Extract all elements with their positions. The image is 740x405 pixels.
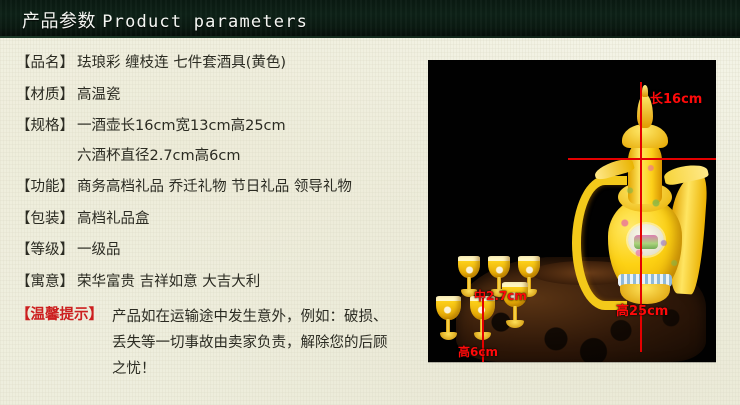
spec-row-material: 【材质】 高温瓷	[16, 84, 421, 109]
warm-tip-label: 【温馨提示】	[16, 304, 103, 326]
spec-value-function: 商务高档礼品 乔迁礼物 节日礼品 领导礼物	[74, 176, 421, 198]
spec-label-function: 【功能】	[16, 176, 74, 198]
spec-value-name: 珐琅彩 缠枝连 七件套酒具(黄色)	[74, 52, 421, 74]
annotation-cup-diameter: 中2.7cm	[474, 287, 527, 304]
teapot-medallion	[628, 224, 664, 256]
warm-tip-row: 【温馨提示】 产品如在运输途中发生意外，例如：破损、 丢失等一切事故由卖家负责，…	[16, 304, 421, 382]
spec-row-packaging: 【包装】 高档礼品盒	[16, 208, 421, 233]
page-title: 产品参数 Product parameters	[22, 7, 308, 33]
spec-row-function: 【功能】 商务高档礼品 乔迁礼物 节日礼品 领导礼物	[16, 176, 421, 201]
teapot-object	[578, 78, 708, 328]
spec-row-size-cups: 六酒杯直径2.7cm高6cm	[16, 145, 421, 170]
warm-tip-line-1: 产品如在运输途中发生意外，例如：破损、	[112, 304, 421, 330]
spec-label-grade: 【等级】	[16, 239, 74, 261]
warm-tip-line-3: 之忧！	[112, 356, 421, 382]
annotation-pot-length: 长16cm	[650, 88, 702, 107]
spec-label-meaning: 【寓意】	[16, 271, 74, 293]
goblet-bowl	[458, 256, 480, 278]
product-photo: 长16cm 高25cm 中2.7cm 高6cm	[428, 60, 716, 362]
spec-value-meaning: 荣华富贵 吉祥如意 大吉大利	[74, 271, 421, 293]
annotation-cup-height: 高6cm	[458, 343, 498, 360]
warm-tip-line-2: 丢失等一切事故由卖家负责，解除您的后顾	[112, 330, 421, 356]
spec-value-packaging: 高档礼品盒	[74, 208, 421, 230]
spec-row-meaning: 【寓意】 荣华富贵 吉祥如意 大吉大利	[16, 271, 421, 296]
spec-row-size: 【规格】 一酒壶长16cm宽13cm高25cm	[16, 115, 421, 140]
page-title-en: Product parameters	[102, 12, 308, 32]
spec-row-grade: 【等级】 一级品	[16, 239, 421, 264]
warm-tip-body: 产品如在运输途中发生意外，例如：破损、 丢失等一切事故由卖家负责，解除您的后顾 …	[103, 304, 421, 382]
goblet-front-1	[436, 296, 461, 342]
spec-value-material: 高温瓷	[74, 84, 421, 106]
spec-value-size-cups: 六酒杯直径2.7cm高6cm	[74, 145, 421, 167]
spec-value-size-pot: 一酒壶长16cm宽13cm高25cm	[74, 115, 421, 137]
goblet-base	[440, 332, 457, 340]
goblet-base	[506, 320, 524, 328]
annotation-line-pot-length	[568, 158, 716, 160]
section-header: 产品参数 Product parameters	[0, 0, 740, 38]
product-spec-list: 【品名】 珐琅彩 缠枝连 七件套酒具(黄色) 【材质】 高温瓷 【规格】 一酒壶…	[16, 52, 421, 388]
goblet-bowl	[518, 256, 540, 278]
spec-label-material: 【材质】	[16, 84, 74, 106]
goblet-bowl	[436, 296, 461, 320]
spec-label-size: 【规格】	[16, 115, 74, 137]
annotation-pot-height: 高25cm	[616, 300, 668, 319]
spec-label-packaging: 【包装】	[16, 208, 74, 230]
page-title-cn: 产品参数	[22, 11, 96, 32]
goblet-bowl	[488, 256, 510, 278]
spec-row-name: 【品名】 珐琅彩 缠枝连 七件套酒具(黄色)	[16, 52, 421, 77]
teapot-neck	[628, 142, 662, 204]
spec-label-name: 【品名】	[16, 52, 74, 74]
spec-value-grade: 一级品	[74, 239, 421, 261]
photo-bottom-rule	[428, 362, 716, 363]
